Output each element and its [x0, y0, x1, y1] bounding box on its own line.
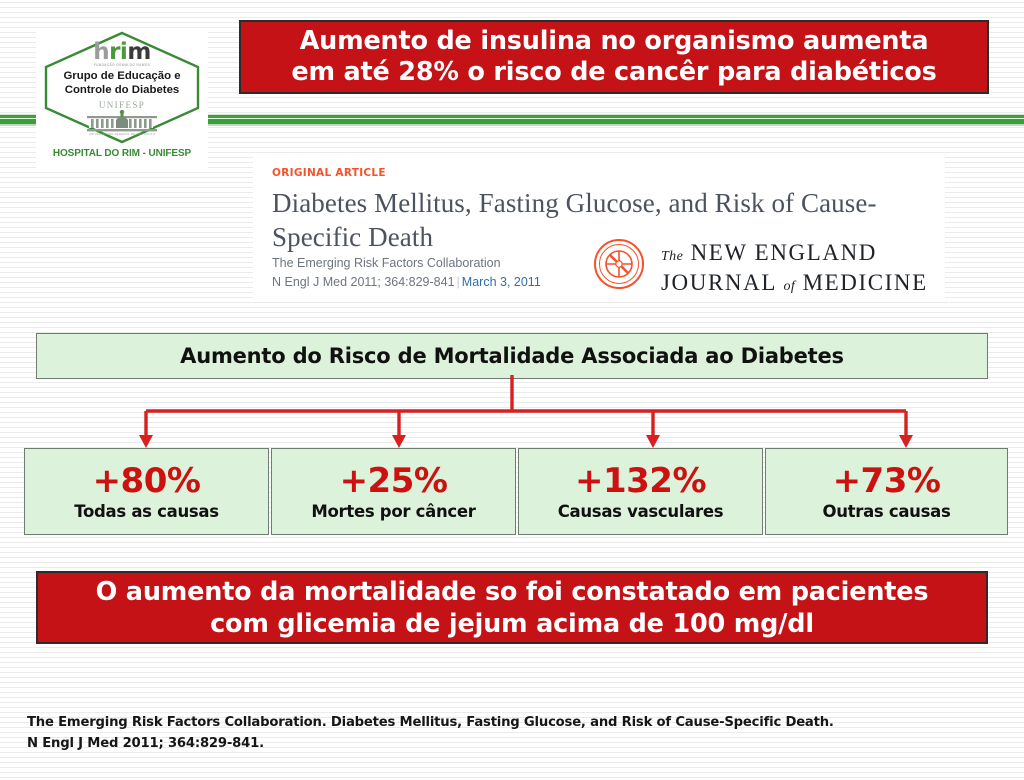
stat-label: Outras causas: [822, 502, 950, 522]
stat-box-vascular-causes: +132% Causas vasculares: [518, 448, 763, 535]
risk-title-box: Aumento do Risco de Mortalidade Associad…: [36, 333, 988, 379]
stat-label: Causas vasculares: [558, 502, 724, 522]
stat-box-other-causes: +73% Outras causas: [765, 448, 1008, 535]
hrim-letter-m: m: [127, 39, 150, 65]
stat-value: +80%: [93, 462, 201, 500]
risk-title-text: Aumento do Risco de Mortalidade Associad…: [180, 344, 844, 368]
article-citation-ref: N Engl J Med 2011; 364:829-841: [272, 275, 455, 289]
hrim-letter-h: h: [93, 39, 109, 65]
logo-group-title-line1: Grupo de Educação e: [36, 69, 208, 83]
footer-citation-line1: The Emerging Risk Factors Collaboration.…: [27, 712, 834, 733]
logo-group-title-line2: Controle do Diabetes: [36, 83, 208, 97]
hrim-letters-ri: ri: [109, 39, 127, 65]
article-citation-date: March 3, 2011: [462, 275, 541, 289]
stat-value: +25%: [340, 462, 448, 500]
nejm-word-medicine: MEDICINE: [803, 270, 928, 295]
hrim-wordmark: hrim: [36, 41, 208, 64]
unifesp-wordmark: UNIFESP: [36, 100, 208, 110]
citation-divider: |: [455, 275, 462, 289]
stat-value: +132%: [575, 462, 706, 500]
stat-box-cancer-deaths: +25% Mortes por câncer: [271, 448, 516, 535]
article-authors: The Emerging Risk Factors Collaboration: [272, 256, 501, 270]
logo-hospital-name: HOSPITAL DO RIM - UNIFESP: [36, 148, 208, 159]
nejm-article-panel: ORIGINAL ARTICLE Diabetes Mellitus, Fast…: [253, 156, 945, 298]
nejm-wordmark: The NEW ENGLAND JOURNAL of MEDICINE: [661, 240, 928, 300]
stat-label: Mortes por câncer: [311, 502, 475, 522]
slide-canvas: hrim FUNDAÇÃO OSWALDO RAMOS Grupo de Edu…: [0, 0, 1024, 780]
headline-banner-top-line2: em até 28% o risco de cancêr para diabét…: [291, 57, 936, 88]
headline-banner-bottom: O aumento da mortalidade so foi constata…: [36, 571, 988, 644]
nejm-wordmark-line2: JOURNAL of MEDICINE: [661, 270, 928, 300]
headline-banner-bottom-line2: com glicemia de jejum acima de 100 mg/dl: [210, 608, 814, 640]
logo-group-title: Grupo de Educação e Controle do Diabetes: [36, 69, 208, 97]
footer-citation: The Emerging Risk Factors Collaboration.…: [27, 712, 834, 754]
stat-box-all-causes: +80% Todas as causas: [24, 448, 269, 535]
headline-banner-top-line1: Aumento de insulina no organismo aumenta: [300, 26, 929, 57]
hrim-logo: hrim FUNDAÇÃO OSWALDO RAMOS Grupo de Edu…: [36, 28, 208, 168]
nejm-word-the: The: [661, 249, 683, 264]
article-kicker: ORIGINAL ARTICLE: [272, 167, 386, 179]
nejm-wordmark-line1: The NEW ENGLAND: [661, 240, 928, 270]
article-citation: N Engl J Med 2011; 364:829-841|March 3, …: [272, 275, 541, 289]
stat-value: +73%: [833, 462, 941, 500]
headline-banner-bottom-line1: O aumento da mortalidade so foi constata…: [96, 576, 929, 608]
nejm-seal-icon: [593, 238, 645, 290]
nejm-word-journal: JOURNAL: [661, 270, 776, 295]
nejm-word-new-england: NEW ENGLAND: [691, 240, 877, 265]
nejm-word-of: of: [784, 279, 796, 294]
stat-label: Todas as causas: [74, 502, 219, 522]
hrim-subtitle: FUNDAÇÃO OSWALDO RAMOS: [36, 63, 208, 67]
footer-citation-line2: N Engl J Med 2011; 364:829-841.: [27, 733, 834, 754]
headline-banner-top: Aumento de insulina no organismo aumenta…: [239, 20, 989, 94]
unifesp-fine-print: UNIVERSIDADE FEDERAL DE SÃO PAULO: [36, 132, 208, 136]
